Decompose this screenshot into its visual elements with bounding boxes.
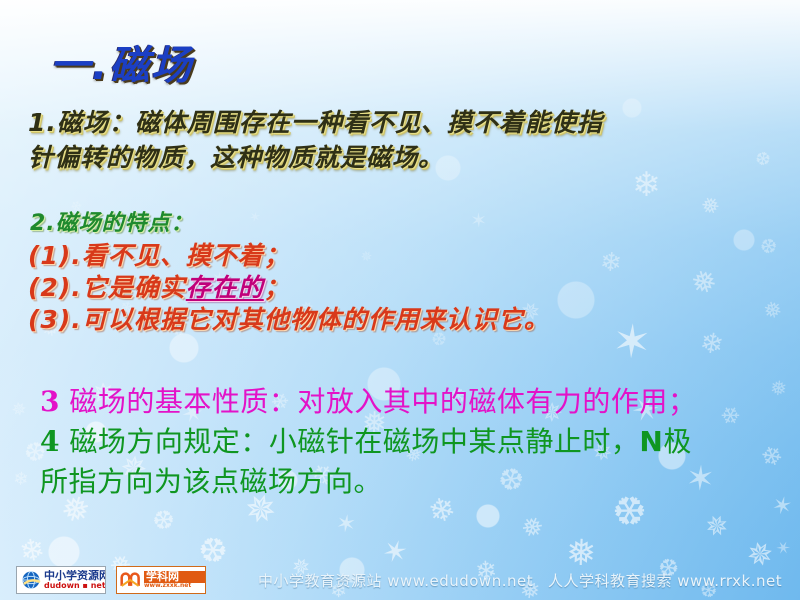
feature-item-2: (2).它是确实存在的； — [28, 268, 290, 304]
definition-line-2: 针偏转的物质，这种物质就是磁场。 — [28, 140, 603, 175]
logo-zxxk-name: 学科网 — [144, 571, 205, 583]
logo-edudown-url: dudown ▪ net — [44, 582, 105, 590]
direction-line-4-text: 磁场方向规定：小磁针在磁场中某点静止时， — [60, 425, 639, 458]
properties-block: 3 磁场的基本性质：对放入其中的磁体有力的作用； 4 磁场方向规定：小磁针在磁场… — [40, 382, 696, 502]
n-pole-label: N — [639, 425, 663, 458]
feature-item-3: (3).可以根据它对其他物体的作用来认识它。 — [28, 300, 550, 336]
logo-edudown-texts: 中小学资源网 dudown ▪ net — [44, 570, 105, 590]
property-line-3-number: 3 — [40, 385, 60, 418]
logo-edudown[interactable]: 中小学资源网 dudown ▪ net — [16, 566, 106, 594]
slide-content: 一.磁场 1.磁场：磁体周围存在一种看不见、摸不着能使指 针偏转的物质，这种物质… — [0, 0, 800, 600]
direction-line-4-number: 4 — [40, 425, 60, 458]
presentation-slide: ❄❅❆✵✶❄❅❆✵✶❄❅❆✵✶❄❅❆✵✶❄❅❆✵✶❄❅❆✵✶❄❅❆✵✶❄❅❆✵✶… — [0, 0, 800, 600]
feature-item-2-prefix: (2).它是确实 — [28, 273, 186, 302]
n-pole-suffix: 极 — [663, 425, 692, 458]
page-title: 一.磁场 — [50, 33, 193, 91]
logo-zxxk-texts: 学科网 www.zxxk.net — [144, 571, 205, 589]
property-line-3-text: 磁场的基本性质：对放入其中的磁体有力的作用； — [60, 385, 696, 418]
footer-right-text: 人人学科教育搜索 www.rrxk.net — [548, 570, 782, 591]
definition-line-1: 1.磁场：磁体周围存在一种看不见、摸不着能使指 — [28, 105, 603, 140]
features-heading: 2.磁场的特点： — [30, 205, 194, 237]
feature-item-1: (1).看不见、摸不着； — [28, 236, 290, 272]
feature-item-2-suffix: ； — [264, 273, 290, 302]
definition-block: 1.磁场：磁体周围存在一种看不见、摸不着能使指 针偏转的物质，这种物质就是磁场。 — [28, 105, 603, 175]
m-mark-icon — [120, 569, 142, 591]
globe-icon — [20, 569, 42, 591]
logo-zxxk[interactable]: 学科网 www.zxxk.net — [116, 566, 206, 594]
logo-zxxk-url: www.zxxk.net — [144, 583, 205, 589]
direction-line-5: 所指方向为该点磁场方向。 — [40, 462, 696, 502]
footer-center-text: 中小学教育资源站 www.edudown.net — [258, 570, 533, 591]
feature-item-2-emphasis: 存在的 — [186, 273, 264, 302]
logo-edudown-name: 中小学资源网 — [44, 570, 105, 582]
property-line-3: 3 磁场的基本性质：对放入其中的磁体有力的作用； — [40, 382, 696, 422]
direction-line-4: 4 磁场方向规定：小磁针在磁场中某点静止时，N极 — [40, 422, 696, 462]
footer-bar: 中小学资源网 dudown ▪ net 学科网 www.zxxk.net 中小学… — [0, 558, 800, 600]
